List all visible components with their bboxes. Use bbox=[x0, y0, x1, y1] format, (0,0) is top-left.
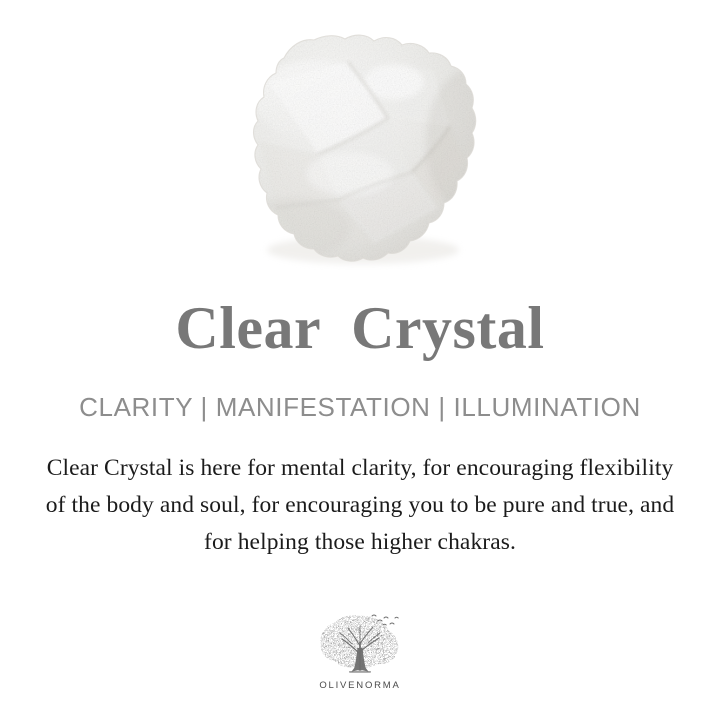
keyword-line: CLARITY | MANIFESTATION | ILLUMINATION bbox=[0, 393, 720, 423]
clear-crystal-stone-icon bbox=[198, 22, 498, 272]
stone-body bbox=[198, 22, 498, 272]
tree-of-life-icon bbox=[314, 612, 406, 678]
clear-crystal-product-card: Clear Crystal CLARITY | MANIFESTATION | … bbox=[0, 0, 720, 720]
product-description: Clear Crystal is here for mental clarity… bbox=[45, 450, 675, 561]
page-title: Clear Crystal bbox=[0, 298, 720, 358]
brand-block: OLIVENORMA bbox=[0, 612, 720, 691]
product-image-area bbox=[0, 0, 720, 282]
brand-name: OLIVENORMA bbox=[0, 680, 720, 691]
